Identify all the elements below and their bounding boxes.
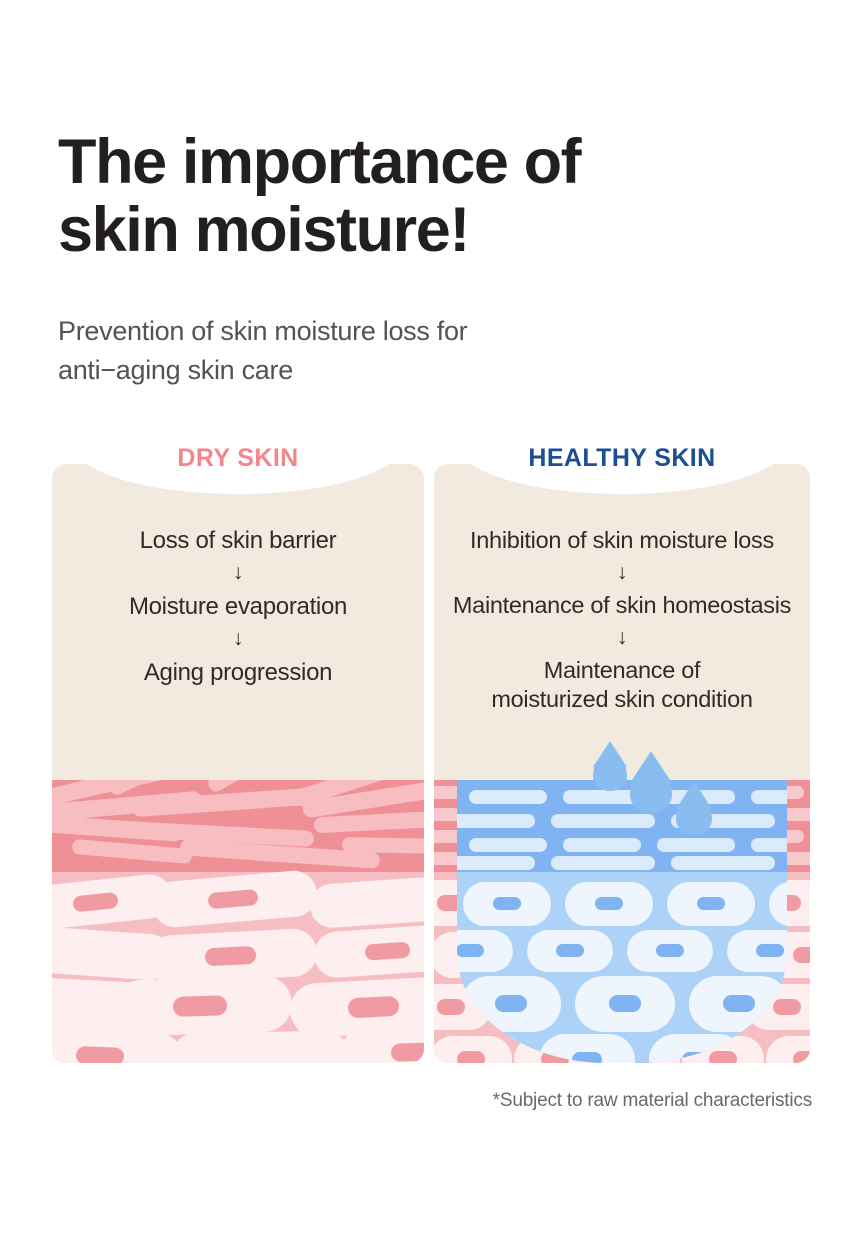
- footnote: *Subject to raw material characteristics: [493, 1090, 812, 1112]
- flow-step-2: Maintenance of skin homeostasis: [434, 591, 810, 620]
- flow-step-3: Maintenance of: [434, 656, 810, 685]
- water-droplet-icon: [630, 766, 672, 813]
- flow-arrow-icon: ↓: [434, 622, 810, 655]
- page-subtitle-line1: Prevention of skin moisture loss for: [58, 316, 467, 346]
- flow-step-2: Moisture evaporation: [52, 592, 424, 621]
- skin-illustration-healthy: [434, 780, 810, 1063]
- page-subtitle-line2: anti−aging skin care: [58, 355, 293, 385]
- flow-step-3-line2: moisturized skin condition: [434, 685, 810, 714]
- flow-dry: Loss of skin barrier ↓ Moisture evaporat…: [52, 526, 424, 687]
- water-droplet-icon: [593, 753, 627, 791]
- page-subtitle: Prevention of skin moisture loss for ant…: [58, 312, 698, 390]
- flow-arrow-icon: ↓: [434, 557, 810, 590]
- water-droplet-icon: [676, 794, 712, 835]
- page-title-line1: The importance of: [58, 127, 580, 197]
- infographic-page: The importance of skin moisture! Prevent…: [0, 0, 860, 1253]
- page-title-line2: skin moisture!: [58, 196, 698, 264]
- panel-label-dry: DRY SKIN: [52, 444, 424, 473]
- flow-arrow-icon: ↓: [52, 623, 424, 656]
- flow-arrow-icon: ↓: [52, 557, 424, 590]
- moisture-overlay: [457, 780, 787, 1063]
- skin-illustration-dry: [52, 780, 424, 1063]
- flow-healthy: Inhibition of skin moisture loss ↓ Maint…: [434, 526, 810, 714]
- panel-healthy-skin: Inhibition of skin moisture loss ↓ Maint…: [434, 464, 810, 1063]
- page-title: The importance of skin moisture!: [58, 128, 698, 264]
- flow-step-1: Inhibition of skin moisture loss: [434, 526, 810, 555]
- panel-label-healthy: HEALTHY SKIN: [434, 444, 810, 473]
- flow-step-1: Loss of skin barrier: [52, 526, 424, 555]
- panel-dry-skin: Loss of skin barrier ↓ Moisture evaporat…: [52, 464, 424, 1063]
- flow-step-3: Aging progression: [52, 658, 424, 687]
